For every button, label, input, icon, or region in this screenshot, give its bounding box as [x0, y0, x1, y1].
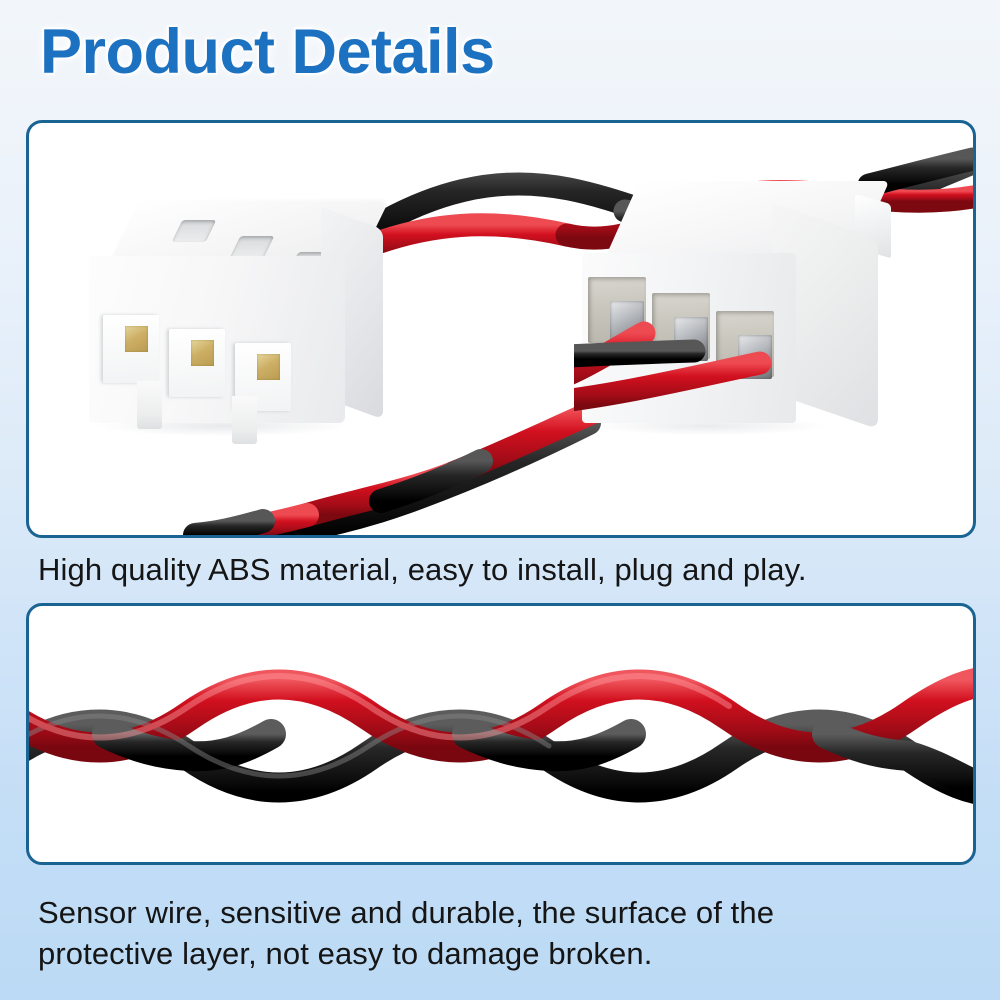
- twisted-wire-photo-stage: [29, 606, 973, 862]
- caption-line: High quality ABS material, easy to insta…: [38, 549, 968, 590]
- left-connector: [89, 198, 384, 473]
- left-connector-contact-3: [257, 354, 280, 380]
- left-connector-leg-1: [137, 381, 162, 429]
- left-connector-contact-1: [125, 326, 148, 352]
- caption-line: protective layer, not easy to damage bro…: [38, 933, 968, 974]
- caption-line: Sensor wire, sensitive and durable, the …: [38, 892, 968, 933]
- page-title: Product Details: [40, 16, 495, 88]
- twisted-wire-illustration-panel-2: [29, 606, 973, 862]
- left-connector-leg-2: [232, 396, 257, 444]
- connector-photo-stage: [29, 123, 973, 535]
- product-image-panel-1: [26, 120, 976, 538]
- wire-stub-black: [574, 351, 694, 359]
- right-connector-wire-stubs: [574, 173, 944, 473]
- panel-1-caption: High quality ABS material, easy to insta…: [38, 549, 968, 590]
- left-connector-contact-2: [191, 340, 214, 366]
- panel-2-caption: Sensor wire, sensitive and durable, the …: [38, 892, 968, 974]
- product-image-panel-2: [26, 603, 976, 865]
- right-connector: [574, 173, 944, 473]
